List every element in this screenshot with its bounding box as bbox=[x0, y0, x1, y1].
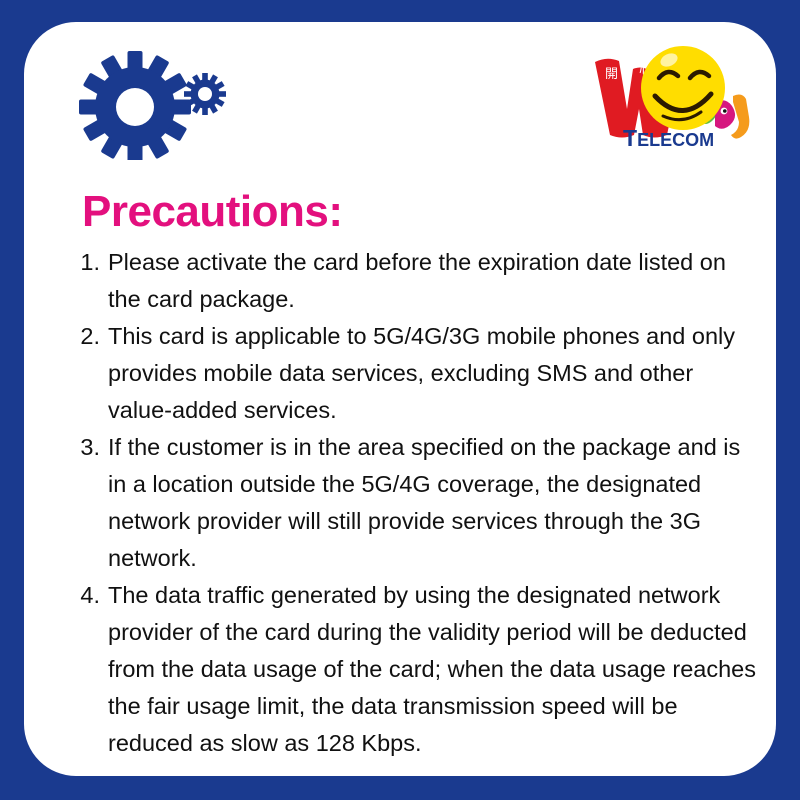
white-card-panel: 開 心 bbox=[24, 22, 776, 776]
logo-chinese-char-1: 開 bbox=[605, 67, 618, 82]
list-item-number: 2. bbox=[60, 318, 108, 355]
woppy-telecom-logo: 開 心 bbox=[587, 38, 752, 160]
list-item: 2. This card is applicable to 5G/4G/3G m… bbox=[60, 318, 760, 429]
list-item-number: 1. bbox=[60, 244, 108, 281]
list-item-text: This card is applicable to 5G/4G/3G mobi… bbox=[108, 318, 760, 429]
precautions-list: 1. Please activate the card before the e… bbox=[60, 244, 760, 762]
list-item-text: If the customer is in the area specified… bbox=[108, 429, 760, 577]
gear-group bbox=[78, 50, 238, 160]
list-item-number: 4. bbox=[60, 577, 108, 614]
list-item-text: Please activate the card before the expi… bbox=[108, 244, 760, 318]
precautions-card-page: 開 心 bbox=[0, 0, 800, 800]
list-item-number: 3. bbox=[60, 429, 108, 466]
page-title: Precautions: bbox=[82, 190, 343, 234]
list-item: 4. The data traffic generated by using t… bbox=[60, 577, 760, 762]
list-item: 1. Please activate the card before the e… bbox=[60, 244, 760, 318]
list-item: 3. If the customer is in the area specif… bbox=[60, 429, 760, 577]
logo-smiley-face bbox=[641, 46, 725, 130]
list-item-text: The data traffic generated by using the … bbox=[108, 577, 760, 762]
card-header: 開 心 bbox=[24, 22, 776, 172]
gear-icon bbox=[78, 50, 238, 160]
logo-telecom-text: TELECOM bbox=[623, 125, 714, 151]
